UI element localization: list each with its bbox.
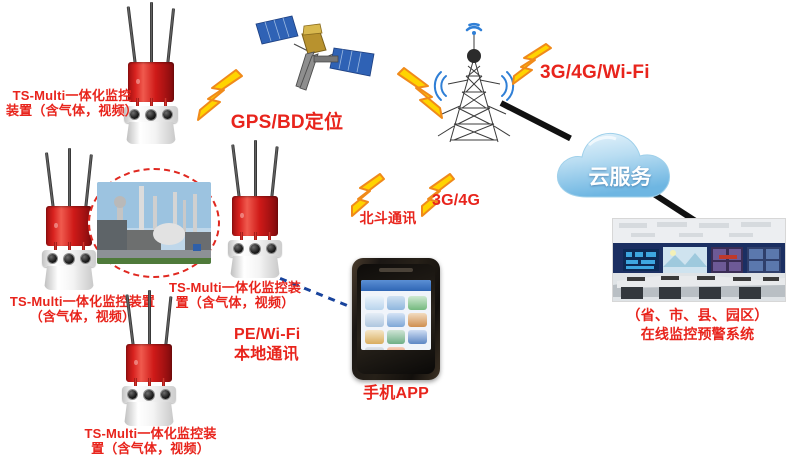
refinery-illustration <box>97 182 211 264</box>
device-bottom-left-label: TS-Multi一体化监控装 置（含气体，视频） <box>68 426 233 457</box>
camera-lens-icon <box>64 254 74 264</box>
device-base <box>124 402 174 426</box>
app-icon-grid[interactable] <box>361 291 431 350</box>
camera-lens-icon <box>144 390 154 400</box>
satellite-illustration <box>246 6 382 98</box>
antenna-icon <box>254 140 257 200</box>
device-top-left[interactable] <box>112 2 190 142</box>
app-icon[interactable] <box>387 347 406 350</box>
camera-lens-icon <box>81 254 90 263</box>
camera-lens-icon <box>267 244 276 253</box>
antenna-icon <box>150 2 153 66</box>
antenna-icon <box>125 294 135 348</box>
control-room-photo <box>612 218 786 302</box>
app-icon[interactable] <box>387 313 406 327</box>
device-head <box>126 344 172 382</box>
mobile-link-label: 3G/4G <box>432 192 512 211</box>
device-base <box>126 122 176 144</box>
signal-bolt-satellite-to-tower <box>388 66 450 120</box>
app-icon[interactable] <box>408 313 427 327</box>
signal-bolt-tower-to-3g4gwifi <box>508 42 558 86</box>
antenna-icon <box>68 148 71 210</box>
camera-lens-icon <box>161 390 170 399</box>
signal-bolt-device-to-satellite <box>190 68 252 122</box>
antenna-icon <box>45 152 55 210</box>
control-room-illustration <box>613 219 785 301</box>
camera-lens-icon <box>250 244 260 254</box>
app-icon[interactable] <box>408 347 427 350</box>
diagram-canvas: TS-Multi一体化监控 装置（含气体，视频） TS-Multi一体化监控装置… <box>0 0 797 464</box>
app-icon[interactable] <box>408 296 427 310</box>
device-base <box>44 266 94 290</box>
app-icon[interactable] <box>387 330 406 344</box>
antenna-icon <box>164 296 172 348</box>
device-head <box>232 196 278 236</box>
app-icon[interactable] <box>365 347 384 350</box>
camera-lens-icon <box>146 110 156 120</box>
antenna-icon <box>231 144 241 200</box>
mobile-app-label: 手机APP <box>340 385 452 404</box>
app-icon[interactable] <box>365 296 384 310</box>
camera-lens-icon <box>48 254 57 263</box>
app-icon[interactable] <box>387 296 406 310</box>
refinery-plant-image <box>97 182 211 264</box>
antenna-icon <box>84 154 93 210</box>
tablet-speaker <box>379 268 413 272</box>
app-icon[interactable] <box>365 330 384 344</box>
local-link-label: PE/Wi-Fi 本地通讯 <box>234 325 354 365</box>
camera-lens-icon <box>163 110 172 119</box>
tower-label: 3G/4G/Wi-Fi <box>540 62 720 84</box>
device-base <box>230 256 280 278</box>
antenna-icon <box>148 290 151 348</box>
device-top-left-label: TS-Multi一体化监控 装置（含气体，视频） <box>2 88 142 119</box>
cloud-service-node[interactable]: 云服务 <box>545 115 695 207</box>
app-icon[interactable] <box>365 313 384 327</box>
antenna-icon <box>270 146 279 200</box>
antenna-icon <box>166 8 175 66</box>
device-mid-right[interactable] <box>216 138 294 278</box>
beidou-link-label: 北斗通讯 <box>338 210 438 227</box>
device-bottom-left[interactable] <box>110 290 188 426</box>
tablet-screen[interactable] <box>361 280 431 350</box>
refinery-plant-photo <box>88 168 220 278</box>
antenna-icon <box>127 6 137 66</box>
camera-lens-icon <box>234 244 243 253</box>
satellite-icon[interactable] <box>246 6 382 103</box>
control-room-label: （省、市、县、园区） 在线监控预警系统 <box>600 306 795 344</box>
cloud-label: 云服务 <box>545 161 695 191</box>
app-titlebar <box>361 280 431 291</box>
mobile-app-device[interactable] <box>352 258 440 380</box>
camera-lens-icon <box>128 390 137 399</box>
app-icon[interactable] <box>408 330 427 344</box>
device-head <box>46 206 92 246</box>
